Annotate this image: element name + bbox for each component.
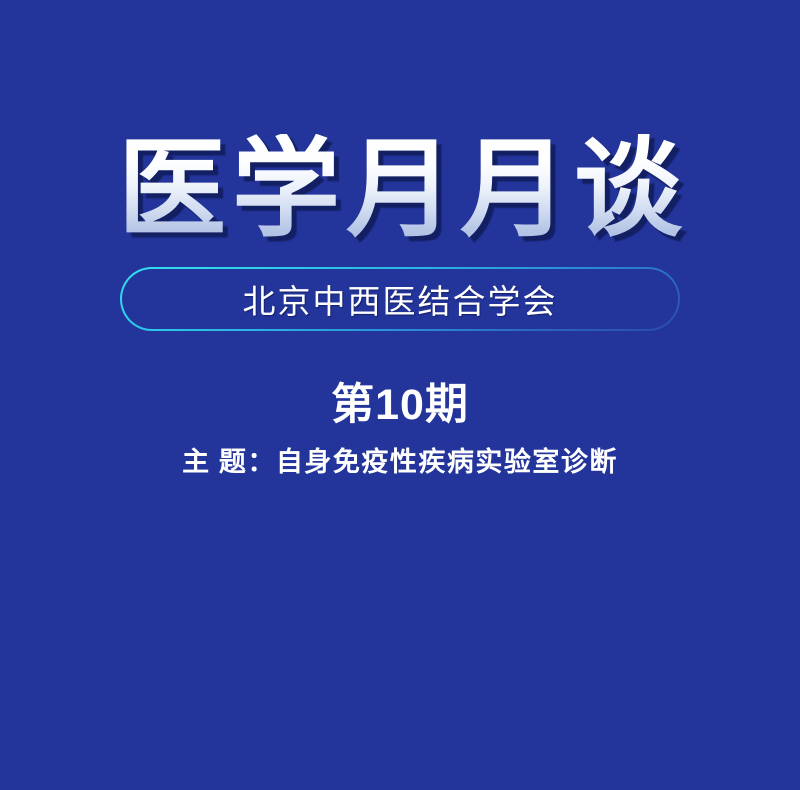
title-stack: 医学月月谈 医学月月谈 [112,134,688,247]
organization-name: 北京中西医结合学会 [243,275,558,323]
poster-canvas: 医学月月谈 医学月月谈 北京中西医结合学会 第10期 主 题：自身免疫性疾病实验… [0,0,800,790]
empty-lower-area [0,500,800,790]
organization-pill-wrap: 北京中西医结合学会 [0,267,800,331]
title-text: 医学月月谈 [112,134,688,247]
topic-line: 主 题：自身免疫性疾病实验室诊断 [0,440,800,479]
poster-title: 医学月月谈 医学月月谈 [0,126,800,256]
issue-number: 第10期 [0,370,800,432]
organization-pill: 北京中西医结合学会 [120,267,680,331]
